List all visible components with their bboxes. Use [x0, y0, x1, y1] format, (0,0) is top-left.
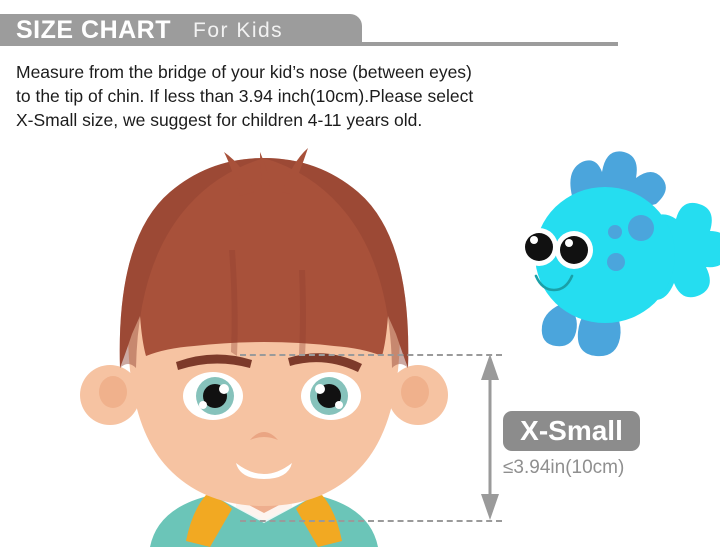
fish-spot-1: [628, 215, 654, 241]
fish-illustration: [520, 151, 720, 356]
boy-bangs-line-right: [299, 270, 306, 356]
boy-eye-left: [183, 372, 243, 420]
boy-eye-right: [301, 372, 361, 420]
arrow-head-top: [481, 354, 499, 380]
fish-eye-right: [555, 231, 593, 269]
size-badge-label: X-Small: [520, 417, 623, 445]
boy-illustration: [80, 148, 448, 547]
measure-arrow: [481, 354, 499, 520]
measure-guide-top: [240, 354, 502, 356]
measure-guide-bottom: [240, 520, 502, 522]
fish-spot-3: [607, 253, 625, 271]
boy-hair: [120, 158, 409, 368]
size-measure-value: ≤3.94in(10cm): [503, 458, 663, 477]
fish-eye-left: [520, 228, 558, 266]
size-badge: X-Small: [503, 411, 640, 451]
fish-spot-2: [608, 225, 622, 239]
size-chart-canvas: SIZE CHART For Kids Measure from the bri…: [0, 0, 720, 547]
arrow-head-bottom: [481, 494, 499, 520]
